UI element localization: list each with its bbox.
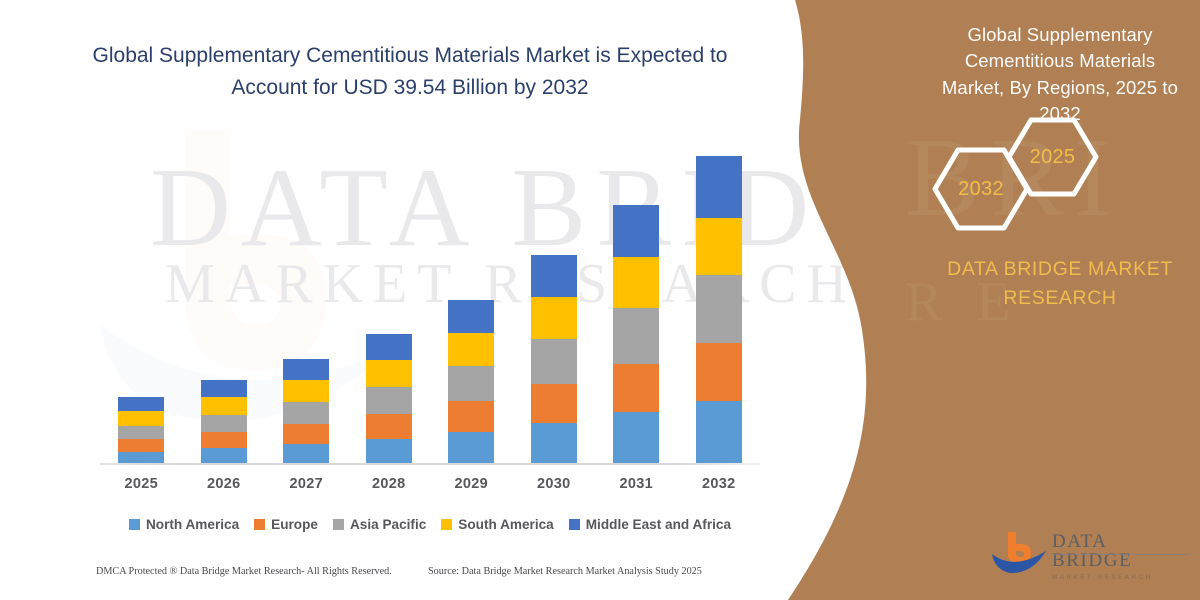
- bar-segment[interactable]: [118, 411, 164, 426]
- x-axis-label: 2029: [426, 476, 516, 492]
- bar-2026[interactable]: [201, 380, 247, 465]
- bar-segment[interactable]: [531, 297, 577, 339]
- footer-copyright: DMCA Protected ® Data Bridge Market Rese…: [96, 566, 392, 577]
- logo-wordmark: DATA BRIDGE MARKET RESEARCH: [1052, 532, 1192, 581]
- chart-legend: North AmericaEuropeAsia PacificSouth Ame…: [100, 512, 760, 536]
- bar-segment[interactable]: [201, 415, 247, 432]
- bar-2030[interactable]: [531, 255, 577, 465]
- legend-swatch-icon: [441, 519, 452, 530]
- legend-label: Europe: [271, 517, 318, 532]
- bar-2032[interactable]: [696, 156, 742, 465]
- bar-segment[interactable]: [118, 439, 164, 452]
- bar-segment[interactable]: [118, 426, 164, 439]
- bar-segment[interactable]: [531, 339, 577, 384]
- bar-2028[interactable]: [366, 334, 412, 465]
- hexagon-badge-end-year: 2025: [1005, 116, 1100, 198]
- legend-item[interactable]: Europe: [254, 517, 318, 532]
- x-axis-line: [100, 463, 760, 465]
- x-axis-labels: 20252026202720282029203020312032: [100, 476, 760, 502]
- bar-segment[interactable]: [448, 333, 494, 366]
- legend-label: South America: [458, 517, 553, 532]
- x-axis-label: 2030: [509, 476, 599, 492]
- bar-segment[interactable]: [696, 401, 742, 465]
- infographic-canvas: DATA BRIDGE MARKET RESEARCH BRI R E Glob…: [0, 0, 1200, 600]
- bar-segment[interactable]: [366, 360, 412, 387]
- bar-chart-plot-area: [100, 140, 760, 465]
- bar-segment[interactable]: [613, 308, 659, 364]
- bar-segment[interactable]: [283, 380, 329, 402]
- x-axis-label: 2028: [344, 476, 434, 492]
- logo-tagline: MARKET RESEARCH: [1052, 575, 1192, 581]
- bar-segment[interactable]: [696, 343, 742, 401]
- x-axis-label: 2031: [591, 476, 681, 492]
- bar-segment[interactable]: [201, 432, 247, 448]
- bar-segment[interactable]: [696, 218, 742, 275]
- bar-segment[interactable]: [283, 359, 329, 380]
- bar-2027[interactable]: [283, 359, 329, 465]
- footer: DMCA Protected ® Data Bridge Market Rese…: [0, 566, 800, 590]
- legend-item[interactable]: North America: [129, 517, 239, 532]
- panel-title: Global Supplementary Cementitious Materi…: [935, 22, 1185, 127]
- bar-segment[interactable]: [613, 412, 659, 465]
- bar-segment[interactable]: [613, 364, 659, 412]
- footer-source: Source: Data Bridge Market Research Mark…: [428, 566, 702, 577]
- bar-segment[interactable]: [283, 402, 329, 424]
- bar-segment[interactable]: [366, 334, 412, 360]
- data-bridge-mark-icon: [990, 530, 1052, 576]
- bar-segment[interactable]: [613, 257, 659, 308]
- x-axis-label: 2025: [96, 476, 186, 492]
- bar-segment[interactable]: [531, 255, 577, 297]
- bar-2029[interactable]: [448, 300, 494, 465]
- data-bridge-logo: DATA BRIDGE MARKET RESEARCH: [990, 528, 1190, 580]
- legend-label: Middle East and Africa: [586, 517, 731, 532]
- logo-name: DATA BRIDGE: [1052, 532, 1192, 570]
- bar-segment[interactable]: [201, 397, 247, 415]
- bar-segment[interactable]: [531, 423, 577, 465]
- bar-segment[interactable]: [283, 444, 329, 465]
- bar-segment[interactable]: [696, 156, 742, 218]
- chart-title: Global Supplementary Cementitious Materi…: [60, 40, 760, 104]
- legend-label: Asia Pacific: [350, 517, 426, 532]
- legend-swatch-icon: [569, 519, 580, 530]
- hexagon-label-2025: 2025: [1005, 116, 1100, 198]
- bar-segment[interactable]: [448, 432, 494, 465]
- legend-item[interactable]: South America: [441, 517, 553, 532]
- legend-item[interactable]: Asia Pacific: [333, 517, 426, 532]
- legend-swatch-icon: [333, 519, 344, 530]
- logo-divider: [1053, 554, 1189, 555]
- x-axis-label: 2026: [179, 476, 269, 492]
- hexagon-badges: 2032 2025: [925, 116, 1115, 226]
- bar-segment[interactable]: [366, 414, 412, 439]
- bar-2025[interactable]: [118, 397, 164, 465]
- bar-segment[interactable]: [366, 387, 412, 414]
- x-axis-label: 2032: [674, 476, 764, 492]
- x-axis-label: 2027: [261, 476, 351, 492]
- legend-swatch-icon: [129, 519, 140, 530]
- bar-segment[interactable]: [696, 275, 742, 343]
- legend-label: North America: [146, 517, 239, 532]
- bar-segment[interactable]: [366, 439, 412, 465]
- bar-segment[interactable]: [531, 384, 577, 423]
- bar-2031[interactable]: [613, 205, 659, 465]
- legend-item[interactable]: Middle East and Africa: [569, 517, 731, 532]
- bar-segment[interactable]: [613, 205, 659, 257]
- panel-brand-name: DATA BRIDGE MARKET RESEARCH: [920, 255, 1200, 314]
- legend-swatch-icon: [254, 519, 265, 530]
- bar-segment[interactable]: [283, 424, 329, 444]
- bar-segment[interactable]: [448, 366, 494, 401]
- bar-segment[interactable]: [118, 397, 164, 411]
- bar-segment[interactable]: [448, 300, 494, 333]
- bar-segment[interactable]: [448, 401, 494, 432]
- bar-segment[interactable]: [201, 380, 247, 397]
